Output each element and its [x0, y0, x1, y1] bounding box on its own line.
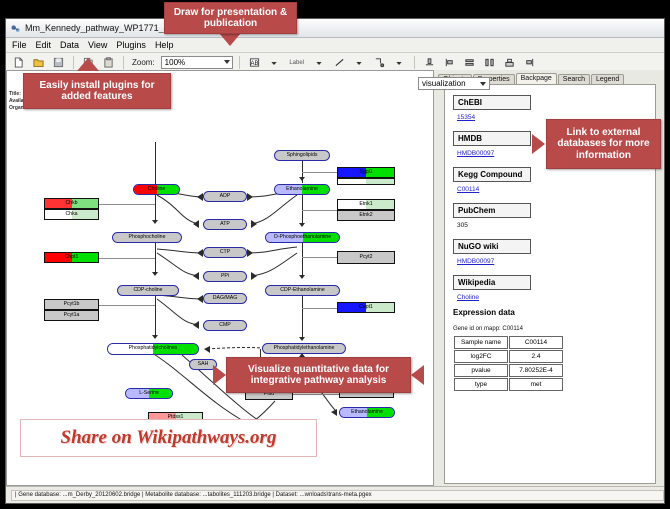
gene-node-etnk1[interactable]: Etnk1: [337, 199, 395, 210]
database-entry: Wikipedia Choline: [453, 272, 655, 301]
db-value-pubchem: 305: [457, 222, 655, 229]
gene-node-chka[interactable]: Chka: [44, 209, 99, 220]
db-header-hmdb: HMDB: [453, 131, 531, 146]
metabolite-node-choline-top[interactable]: Choline: [133, 184, 180, 195]
row-value: 2.4: [509, 350, 563, 363]
callout-visualize: Visualize quantitative data for integrat…: [226, 357, 411, 393]
tab-backpage[interactable]: Backpage: [516, 73, 557, 84]
arrow-head: [299, 275, 305, 279]
status-text: | Gene database: ...m_Derby_20120602.bri…: [11, 490, 664, 501]
metabolite-node-dag-mag[interactable]: DAG/MAG: [203, 293, 247, 304]
database-entry: NuGO wiki HMDB00097: [453, 236, 655, 265]
callout-visualize-arrow-right: [411, 365, 424, 385]
node-label: CTP: [219, 250, 231, 255]
expression-table: Sample name C00114 log2FC 2.4 pvalue 7.8…: [453, 335, 564, 392]
node-label: Chkb: [64, 201, 78, 206]
paste-icon[interactable]: [100, 54, 117, 71]
share-banner: Share on Wikipathways.org: [20, 419, 317, 457]
gene-node-etnk2[interactable]: Etnk2: [337, 210, 395, 221]
row-label: type: [454, 378, 508, 391]
connector-icon[interactable]: [371, 54, 388, 71]
menu-help[interactable]: Help: [155, 40, 174, 50]
menu-bar: File Edit Data View Plugins Help: [6, 38, 664, 53]
gene-connector: [302, 172, 337, 173]
node-label: Pcyt1a: [63, 313, 81, 318]
node-label: CDP-Ethanolamine: [279, 288, 325, 293]
db-header-wikipedia: Wikipedia: [453, 275, 531, 290]
arrow-head: [299, 177, 305, 181]
zoom-label: Zoom:: [132, 58, 155, 67]
metabolite-node-phosphocholine[interactable]: Phosphocholine: [112, 232, 182, 243]
table-row: type met: [454, 378, 563, 391]
gene-node-sgpl1[interactable]: Sgpl1: [337, 167, 395, 178]
align-top-icon[interactable]: [421, 54, 438, 71]
node-label: Choline: [147, 187, 167, 192]
line-dropdown-icon[interactable]: [351, 54, 368, 71]
table-row: log2FC 2.4: [454, 350, 563, 363]
metabolite-node-ethanolamine[interactable]: Ethanolamine: [274, 184, 330, 195]
metabolite-node-l-serine-left[interactable]: L-Serine: [125, 388, 173, 399]
node-fill-left: [338, 179, 366, 184]
node-label: Cept1: [358, 305, 374, 310]
gene-node-cept1[interactable]: Cept1: [337, 302, 395, 313]
node-label: PPi: [220, 274, 230, 279]
row-label: log2FC: [454, 350, 508, 363]
menu-edit[interactable]: Edit: [36, 40, 52, 50]
gene-connector: [99, 305, 155, 306]
node-label: CDP-choline: [132, 288, 163, 293]
line-icon[interactable]: [331, 54, 348, 71]
metabolite-node-ppi[interactable]: PPi: [203, 271, 247, 282]
row-value: C00114: [509, 336, 563, 349]
row-label: Sample name: [454, 336, 508, 349]
node-label: SAH: [197, 362, 210, 367]
gene-node-pcyt1a[interactable]: Pcyt1a: [44, 310, 99, 321]
callout-draw-arrow: [219, 33, 241, 46]
node-label: Phosphatidylethanolamine: [273, 346, 336, 351]
menu-file[interactable]: File: [12, 40, 27, 50]
align-right-icon[interactable]: [521, 54, 538, 71]
db-header-chebi: ChEBI: [453, 95, 531, 110]
node-label: Chpt1: [64, 255, 80, 260]
zoom-combo[interactable]: 100%: [161, 56, 233, 69]
toolbar-separator: [73, 56, 74, 69]
table-row: Sample name C00114: [454, 336, 563, 349]
menu-plugins[interactable]: Plugins: [116, 40, 146, 50]
row-value: met: [509, 378, 563, 391]
gene-node-pcyt2[interactable]: Pcyt2: [337, 251, 395, 264]
database-entry: PubChem 305: [453, 200, 655, 229]
table-row: pvalue 7.80252E-4: [454, 364, 563, 377]
application-icon: [10, 23, 21, 34]
callout-plugins: Easily install plugins for added feature…: [23, 73, 171, 109]
node-label: ATP: [219, 222, 231, 227]
gene-connector: [99, 204, 155, 205]
callout-plugins-arrow: [77, 58, 99, 71]
title-bar: Mm_Kennedy_pathway_WP1771_45176.gpml: [6, 19, 664, 38]
callout-visualize-arrow: [213, 365, 226, 385]
visualization-value: visualization: [422, 79, 466, 88]
node-label: L-Serine: [138, 391, 160, 396]
node-label: Sgpl1: [358, 170, 373, 175]
db-link-kegg[interactable]: C00114: [457, 186, 655, 193]
node-label: Chka: [64, 212, 78, 217]
metabolite-node-cdp-choline[interactable]: CDP-choline: [117, 285, 179, 296]
node-fill-right: [366, 179, 394, 184]
node-label: Etnk1: [358, 202, 373, 207]
svg-text:AB: AB: [250, 61, 258, 67]
status-bar: | Gene database: ...m_Derby_20120602.bri…: [6, 486, 664, 503]
node-label: Ethanolamine: [285, 187, 319, 192]
callout-draw: Draw for presentation & publication: [164, 2, 297, 34]
label-tool-dropdown-icon[interactable]: [311, 54, 328, 71]
align-vertical-icon[interactable]: [461, 54, 478, 71]
connector-cdpetn-ptdetn: [302, 296, 303, 338]
row-value: 7.80252E-4: [509, 364, 563, 377]
toolbar-separator: [414, 56, 415, 69]
db-header-kegg: Kegg Compound: [453, 167, 531, 182]
node-label: DAG/MAG: [212, 296, 239, 301]
align-stack-icon[interactable]: [501, 54, 518, 71]
metabolite-node-adp[interactable]: ADP: [203, 191, 247, 202]
db-link-wikipedia[interactable]: Choline: [457, 294, 655, 301]
arrow-head: [299, 223, 305, 227]
open-folder-icon[interactable]: [30, 54, 47, 71]
tab-legend[interactable]: Legend: [591, 74, 624, 84]
metabolite-node-cdp-ethanolamine[interactable]: CDP-Ethanolamine: [265, 285, 340, 296]
connector-dropdown-icon[interactable]: [391, 54, 408, 71]
visualization-combo[interactable]: visualization: [418, 77, 490, 90]
metabolite-node-cmp[interactable]: CMP: [203, 320, 247, 331]
gene-connector: [99, 258, 155, 259]
gene-node-sgpl1-b[interactable]: [337, 178, 395, 185]
zoom-value: 100%: [165, 58, 185, 67]
text-label-icon[interactable]: AB: [246, 54, 263, 71]
node-label: ADP: [219, 194, 232, 199]
metabolite-node-ctp[interactable]: CTP: [203, 247, 247, 258]
node-label: Phosphatidylcholines: [128, 346, 179, 351]
metabolite-node-ethanolamine-right[interactable]: Ethanolamine: [339, 407, 395, 418]
gene-connector: [302, 210, 337, 211]
label-dropdown-icon[interactable]: [266, 54, 283, 71]
gene-connector: [302, 257, 337, 258]
menu-data[interactable]: Data: [60, 40, 79, 50]
metabolite-node-phosphatidylethanolamine[interactable]: Phosphatidylethanolamine: [262, 343, 346, 354]
gene-connector: [302, 308, 337, 309]
db-header-nugo: NuGO wiki: [453, 239, 531, 254]
menu-view[interactable]: View: [88, 40, 107, 50]
gene-node-chkb[interactable]: Chkb: [44, 198, 99, 209]
db-header-pubchem: PubChem: [453, 203, 531, 218]
node-label: Pcyt1b: [63, 302, 81, 307]
node-label: Phosphocholine: [128, 235, 167, 240]
database-entry: ChEBI 15354: [453, 92, 655, 121]
toolbar-separator: [239, 56, 240, 69]
distribute-horizontal-icon[interactable]: [481, 54, 498, 71]
new-file-icon[interactable]: [10, 54, 27, 71]
db-link-nugo[interactable]: HMDB00097: [457, 258, 655, 265]
callout-link: Link to external databases for more info…: [546, 119, 661, 169]
node-label: O-Phosphoethanolamine: [273, 235, 332, 240]
share-banner-text: Share on Wikipathways.org: [61, 427, 277, 449]
metabolite-node-sphingolipids[interactable]: Sphingolipids: [274, 150, 330, 161]
callout-link-arrow: [532, 134, 545, 154]
row-label: pvalue: [454, 364, 508, 377]
align-left-icon[interactable]: [441, 54, 458, 71]
gene-id-line: Gene id on mapp: C00114: [453, 326, 655, 332]
tab-search[interactable]: Search: [558, 74, 590, 84]
label-tool-icon[interactable]: Label: [286, 54, 308, 71]
gene-connector: [293, 394, 339, 395]
gene-node-chpt1[interactable]: Chpt1: [44, 252, 99, 263]
node-label: Etnk2: [358, 213, 373, 218]
metabolite-node-o-phosphoethanolamine[interactable]: O-Phosphoethanolamine: [265, 232, 340, 243]
save-icon[interactable]: [50, 54, 67, 71]
node-label: Pcyt2: [359, 255, 374, 260]
metabolite-node-phosphatidylcholines[interactable]: Phosphatidylcholines: [107, 343, 199, 355]
chevron-down-icon: [224, 60, 230, 64]
expression-data-title: Expression data: [453, 308, 655, 317]
connector-ophospho-cdpetn: [302, 243, 303, 278]
chevron-down-icon: [480, 82, 486, 86]
gene-node-pcyt1b[interactable]: Pcyt1b: [44, 299, 99, 310]
node-label: Ethanolamine: [350, 410, 384, 415]
node-label: CMP: [218, 323, 232, 328]
metabolite-node-atp[interactable]: ATP: [203, 219, 247, 230]
arrow-head: [299, 337, 305, 341]
toolbar-separator: [123, 56, 124, 69]
node-label: Sphingolipids: [286, 153, 319, 158]
